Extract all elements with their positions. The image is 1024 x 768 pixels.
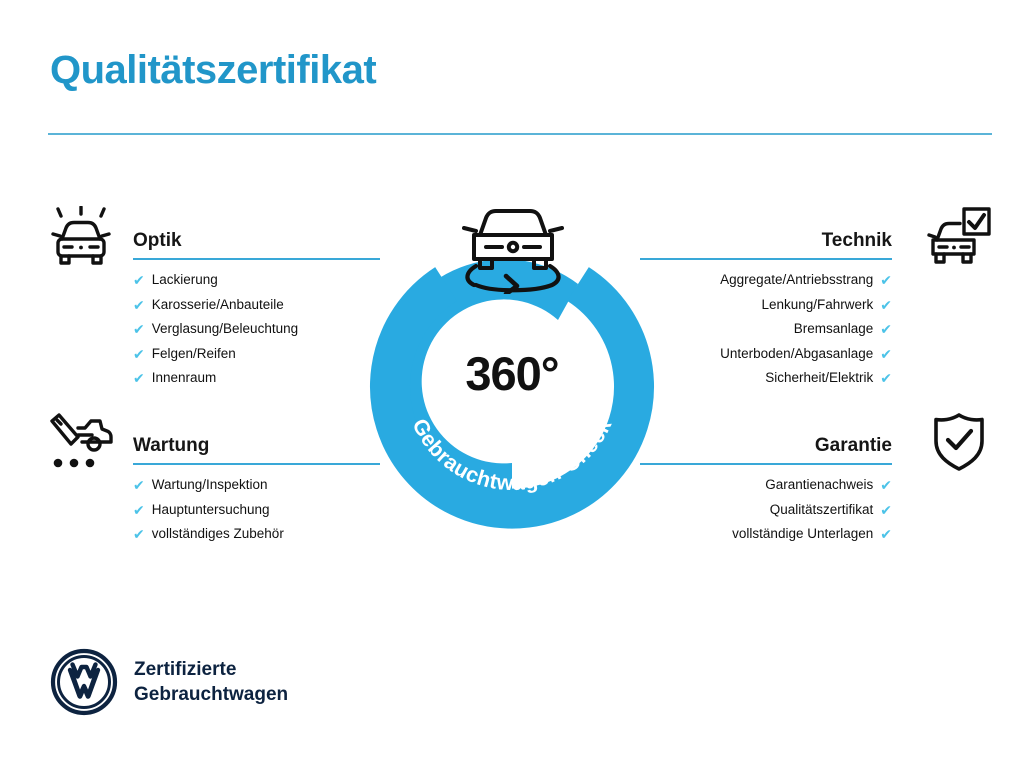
list-item-label: Bremsanlage xyxy=(794,317,874,342)
check-icon: ✔ xyxy=(133,298,145,312)
check-icon: ✔ xyxy=(133,347,145,361)
check-icon: ✔ xyxy=(133,322,145,336)
list-item-label: Unterboden/Abgasanlage xyxy=(720,342,873,367)
shield-check-icon xyxy=(926,411,992,473)
list-item: ✔vollständiges Zubehör xyxy=(133,522,380,547)
list-item: ✔Lackierung xyxy=(133,268,380,293)
car-checkbox-icon xyxy=(926,206,992,268)
list-item-label: Wartung/Inspektion xyxy=(152,473,268,498)
section-optik: Optik ✔Lackierung ✔Karosserie/Anbauteile… xyxy=(48,208,380,391)
check-icon: ✔ xyxy=(880,503,892,517)
list-item-label: Lenkung/Fahrwerk xyxy=(761,293,873,318)
check-icon: ✔ xyxy=(133,273,145,287)
check-icon: ✔ xyxy=(880,527,892,541)
section-garantie-header: Garantie xyxy=(640,413,992,473)
section-optik-list: ✔Lackierung ✔Karosserie/Anbauteile ✔Verg… xyxy=(48,268,380,391)
section-garantie: Garantie Garantienachweis✔ Qualitätszert… xyxy=(640,413,992,547)
section-technik-list: Aggregate/Antriebsstrang✔ Lenkung/Fahrwe… xyxy=(640,268,992,391)
section-technik: Technik Aggregate/Antriebsstrang✔ Lenkun… xyxy=(640,208,992,391)
title-divider xyxy=(48,133,992,135)
check-icon: ✔ xyxy=(880,298,892,312)
check-icon: ✔ xyxy=(133,527,145,541)
section-technik-header: Technik xyxy=(640,208,992,268)
section-wartung-list: ✔Wartung/Inspektion ✔Hauptuntersuchung ✔… xyxy=(48,473,380,547)
list-item-label: vollständige Unterlagen xyxy=(732,522,873,547)
list-item: ✔Karosserie/Anbauteile xyxy=(133,293,380,318)
car-rotation-icon xyxy=(452,202,574,294)
list-item-label: vollständiges Zubehör xyxy=(152,522,284,547)
check-icon: ✔ xyxy=(880,371,892,385)
list-item: Aggregate/Antriebsstrang✔ xyxy=(640,268,892,293)
check-icon: ✔ xyxy=(133,478,145,492)
certificate-page: Qualitätszertifikat Optik ✔Lackierung ✔K… xyxy=(0,0,1024,768)
list-item-label: Qualitätszertifikat xyxy=(770,498,874,523)
section-wartung: Wartung ✔Wartung/Inspektion ✔Hauptunters… xyxy=(48,413,380,547)
badge-center-label: 360° xyxy=(382,346,642,401)
check-icon: ✔ xyxy=(880,478,892,492)
section-technik-title: Technik xyxy=(822,230,892,252)
section-wartung-divider xyxy=(133,463,380,465)
list-item-label: Felgen/Reifen xyxy=(152,342,236,367)
section-optik-divider xyxy=(133,258,380,260)
360-check-badge: Gebrauchtwagen-Check 360° xyxy=(382,258,642,503)
list-item-label: Karosserie/Anbauteile xyxy=(152,293,284,318)
list-item: ✔Hauptuntersuchung xyxy=(133,498,380,523)
section-optik-header: Optik xyxy=(48,208,380,268)
section-garantie-divider xyxy=(640,463,892,465)
section-garantie-title: Garantie xyxy=(815,435,892,457)
list-item: Lenkung/Fahrwerk✔ xyxy=(640,293,892,318)
wrench-car-icon xyxy=(48,411,114,473)
list-item: ✔Wartung/Inspektion xyxy=(133,473,380,498)
list-item: ✔Felgen/Reifen xyxy=(133,342,380,367)
section-optik-title: Optik xyxy=(133,230,182,252)
check-icon: ✔ xyxy=(133,371,145,385)
list-item: ✔Innenraum xyxy=(133,366,380,391)
list-item-label: Lackierung xyxy=(152,268,218,293)
list-item-label: Aggregate/Antriebsstrang xyxy=(720,268,873,293)
list-item: Garantienachweis✔ xyxy=(640,473,892,498)
list-item: Unterboden/Abgasanlage✔ xyxy=(640,342,892,367)
check-icon: ✔ xyxy=(880,347,892,361)
section-garantie-list: Garantienachweis✔ Qualitätszertifikat✔ v… xyxy=(640,473,992,547)
car-shine-icon xyxy=(48,206,114,268)
vw-certified-footer: Zertifizierte Gebrauchtwagen xyxy=(50,648,288,716)
section-technik-divider xyxy=(640,258,892,260)
list-item: vollständige Unterlagen✔ xyxy=(640,522,892,547)
list-item-label: Sicherheit/Elektrik xyxy=(765,366,873,391)
list-item: ✔Verglasung/Beleuchtung xyxy=(133,317,380,342)
footer-line-2: Gebrauchtwagen xyxy=(134,684,288,705)
vw-logo-icon xyxy=(50,648,118,716)
footer-text: Zertifizierte Gebrauchtwagen xyxy=(134,657,288,708)
page-title: Qualitätszertifikat xyxy=(50,48,376,92)
list-item-label: Verglasung/Beleuchtung xyxy=(152,317,298,342)
check-icon: ✔ xyxy=(880,322,892,336)
list-item-label: Hauptuntersuchung xyxy=(152,498,270,523)
section-wartung-title: Wartung xyxy=(133,435,209,457)
list-item: Sicherheit/Elektrik✔ xyxy=(640,366,892,391)
check-icon: ✔ xyxy=(133,503,145,517)
list-item: Bremsanlage✔ xyxy=(640,317,892,342)
check-icon: ✔ xyxy=(880,273,892,287)
list-item-label: Garantienachweis xyxy=(765,473,873,498)
footer-line-1: Zertifizierte xyxy=(134,659,236,680)
section-wartung-header: Wartung xyxy=(48,413,380,473)
list-item-label: Innenraum xyxy=(152,366,217,391)
list-item: Qualitätszertifikat✔ xyxy=(640,498,892,523)
